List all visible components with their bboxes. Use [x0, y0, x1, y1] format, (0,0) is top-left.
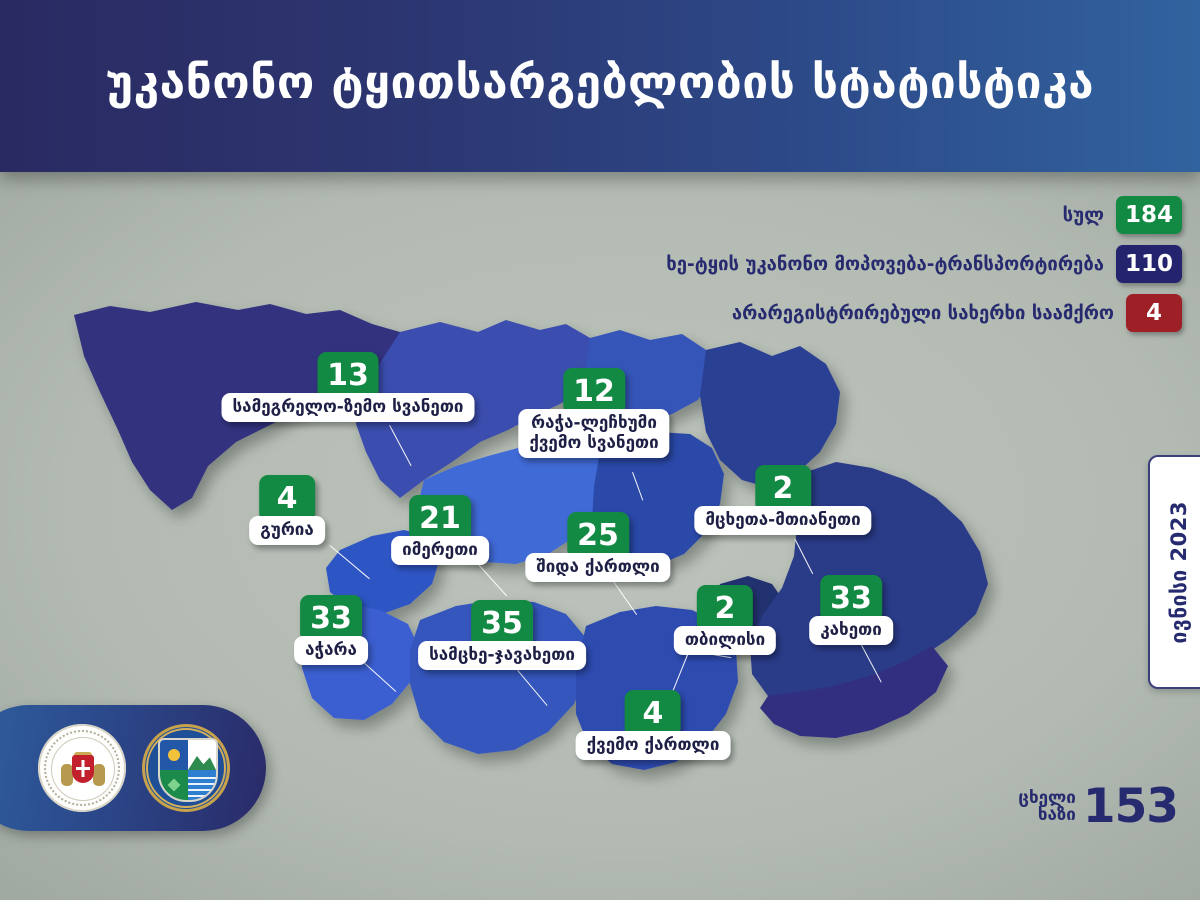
hotline-line2: ხაზი — [1018, 807, 1076, 824]
header-banner: უკანონო ტყითსარგებლობის სტატისტიკა — [0, 0, 1200, 172]
region-count-adjara: 33 — [300, 595, 362, 642]
lion-right-icon — [93, 764, 105, 786]
waves-icon — [188, 776, 216, 797]
region-count-guria: 4 — [259, 475, 315, 522]
logo-badge — [0, 705, 266, 831]
hotline-number: 153 — [1083, 785, 1178, 828]
region-marker-guria: 4გურია — [249, 475, 325, 545]
hotline-words: ცხელი ხაზი — [1018, 790, 1076, 824]
region-name-kvemo-kartli: ქვემო ქართლი — [576, 731, 731, 760]
region-name-imereti: იმერეთი — [391, 536, 489, 565]
region-name-adjara: აჭარა — [294, 636, 368, 665]
region-name-line2-racha: ქვემო სვანეთი — [529, 433, 658, 453]
quadrant-water — [188, 770, 216, 800]
region-name-racha: რაჭა-ლეჩხუმიქვემო სვანეთი — [518, 409, 669, 458]
region-marker-kvemo-kartli: 4ქვემო ქართლი — [576, 690, 731, 760]
region-count-mtskheta: 2 — [755, 465, 811, 512]
seal-inner — [51, 737, 115, 801]
region-marker-kakheti: 33კახეთი — [809, 575, 893, 645]
region-marker-mtskheta: 2მცხეთა-მთიანეთი — [694, 465, 871, 535]
region-marker-shida-kartli: 25შიდა ქართლი — [525, 512, 670, 582]
mountains-icon — [188, 752, 216, 770]
period-label: ივნისი 2023 — [1167, 501, 1191, 643]
ministry-of-environmental-protection-and-agriculture-seal — [38, 724, 126, 812]
leaf-icon — [168, 779, 181, 792]
georgia-coat-of-arms-icon — [72, 755, 94, 783]
region-count-racha: 12 — [563, 368, 625, 415]
region-name-samtskhe: სამცხე-ჯავახეთი — [418, 641, 586, 670]
seal-shield-icon — [158, 738, 218, 802]
region-count-kakheti: 33 — [820, 575, 882, 622]
infographic-root: უკანონო ტყითსარგებლობის სტატისტიკა სულ 1… — [0, 0, 1200, 900]
region-marker-adjara: 33აჭარა — [294, 595, 368, 665]
quadrant-mountains — [188, 740, 216, 770]
region-count-shida-kartli: 25 — [567, 512, 629, 559]
environmental-supervision-department-seal — [142, 724, 230, 812]
region-count-kvemo-kartli: 4 — [625, 690, 681, 737]
region-marker-samegrelo: 13სამეგრელო-ზემო სვანეთი — [222, 352, 475, 422]
region-count-samtskhe: 35 — [471, 600, 533, 647]
region-marker-racha: 12რაჭა-ლეჩხუმიქვემო სვანეთი — [518, 368, 669, 458]
page-title: უკანონო ტყითსარგებლობის სტატისტიკა — [106, 57, 1094, 116]
region-name-shida-kartli: შიდა ქართლი — [525, 553, 670, 582]
sun-icon — [168, 749, 180, 761]
region-count-imereti: 21 — [409, 495, 471, 542]
region-name-kakheti: კახეთი — [809, 616, 893, 645]
region-count-tbilisi: 2 — [697, 585, 753, 632]
period-box: ივნისი 2023 — [1148, 455, 1200, 689]
region-name-guria: გურია — [249, 516, 325, 545]
quadrant-sun — [160, 740, 188, 770]
quadrant-leaf — [160, 770, 188, 800]
region-marker-samtskhe: 35სამცხე-ჯავახეთი — [418, 600, 586, 670]
region-name-samegrelo: სამეგრელო-ზემო სვანეთი — [222, 393, 475, 422]
region-name-mtskheta: მცხეთა-მთიანეთი — [694, 506, 871, 535]
region-marker-imereti: 21იმერეთი — [391, 495, 489, 565]
hotline: ცხელი ხაზი 153 — [1018, 785, 1178, 828]
region-marker-tbilisi: 2თბილისი — [674, 585, 776, 655]
region-count-samegrelo: 13 — [317, 352, 379, 399]
